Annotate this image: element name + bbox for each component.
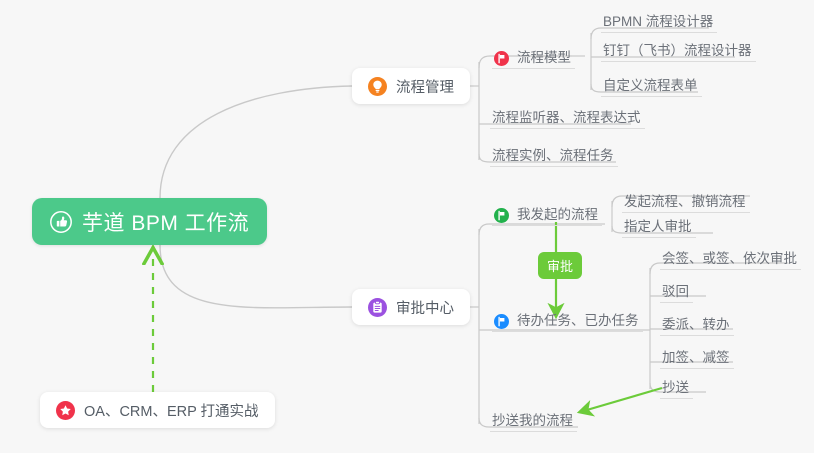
node-label: 钉钉（飞书）流程设计器	[603, 39, 752, 59]
root-node[interactable]: 芋道 BPM 工作流	[32, 198, 267, 245]
node-countersign-orsign-sequential[interactable]: 会签、或签、依次审批	[660, 245, 801, 270]
flag-icon	[494, 314, 509, 329]
node-bpmn-designer[interactable]: BPMN 流程设计器	[601, 8, 717, 33]
branch-approval-center[interactable]: 审批中心	[352, 289, 470, 325]
node-label: 待办任务、已办任务	[517, 309, 639, 329]
node-process-model[interactable]: 流程模型	[492, 44, 575, 69]
node-add-remove-sign[interactable]: 加签、减签	[660, 344, 734, 369]
node-label: 抄送我的流程	[492, 409, 573, 429]
node-custom-process-form[interactable]: 自定义流程表单	[601, 72, 702, 97]
node-delegate-transfer[interactable]: 委派、转办	[660, 311, 734, 336]
node-label: BPMN 流程设计器	[603, 10, 713, 30]
node-cc[interactable]: 抄送	[660, 374, 693, 399]
node-label: 流程实例、流程任务	[492, 144, 614, 164]
node-cc-to-me-process[interactable]: 抄送我的流程	[490, 407, 577, 432]
node-label: 会签、或签、依次审批	[662, 247, 797, 267]
node-process-instance-task[interactable]: 流程实例、流程任务	[490, 142, 618, 167]
callout-integration[interactable]: OA、CRM、ERP 打通实战	[40, 392, 275, 428]
node-label: 委派、转办	[662, 313, 730, 333]
root-label: 芋道 BPM 工作流	[82, 207, 249, 237]
flag-icon	[494, 51, 509, 66]
node-label: 自定义流程表单	[603, 74, 698, 94]
node-label: 驳回	[662, 280, 689, 300]
branch-process-management[interactable]: 流程管理	[352, 68, 470, 104]
node-assignee-approval[interactable]: 指定人审批	[622, 213, 696, 238]
thumbs-up-icon	[50, 211, 72, 233]
mindmap-canvas: 芋道 BPM 工作流 流程管理 流程模型 BPMN 流程设计器 钉钉（飞书）流程	[0, 0, 814, 453]
node-label: 加签、减签	[662, 346, 730, 366]
node-label: 流程模型	[517, 46, 571, 66]
lightbulb-icon	[368, 77, 387, 96]
clipboard-icon	[368, 298, 387, 317]
approval-badge[interactable]: 审批	[538, 252, 582, 279]
node-dingtalk-feishu-designer[interactable]: 钉钉（飞书）流程设计器	[601, 37, 756, 62]
node-label: 我发起的流程	[517, 203, 598, 223]
branch-label: 审批中心	[396, 297, 454, 318]
flag-icon	[494, 208, 509, 223]
node-label: 发起流程、撤销流程	[624, 190, 746, 210]
node-reject[interactable]: 驳回	[660, 278, 693, 303]
badge-label: 审批	[547, 256, 573, 275]
node-my-initiated-process[interactable]: 我发起的流程	[492, 201, 602, 226]
node-label: 流程监听器、流程表达式	[492, 106, 641, 126]
node-label: 抄送	[662, 376, 689, 396]
branch-label: 流程管理	[396, 76, 454, 97]
node-todo-done-task[interactable]: 待办任务、已办任务	[492, 307, 643, 332]
node-start-cancel-process[interactable]: 发起流程、撤销流程	[622, 188, 750, 213]
node-label: 指定人审批	[624, 215, 692, 235]
callout-label: OA、CRM、ERP 打通实战	[84, 400, 259, 421]
node-process-listener-expression[interactable]: 流程监听器、流程表达式	[490, 104, 645, 129]
star-icon	[56, 401, 75, 420]
